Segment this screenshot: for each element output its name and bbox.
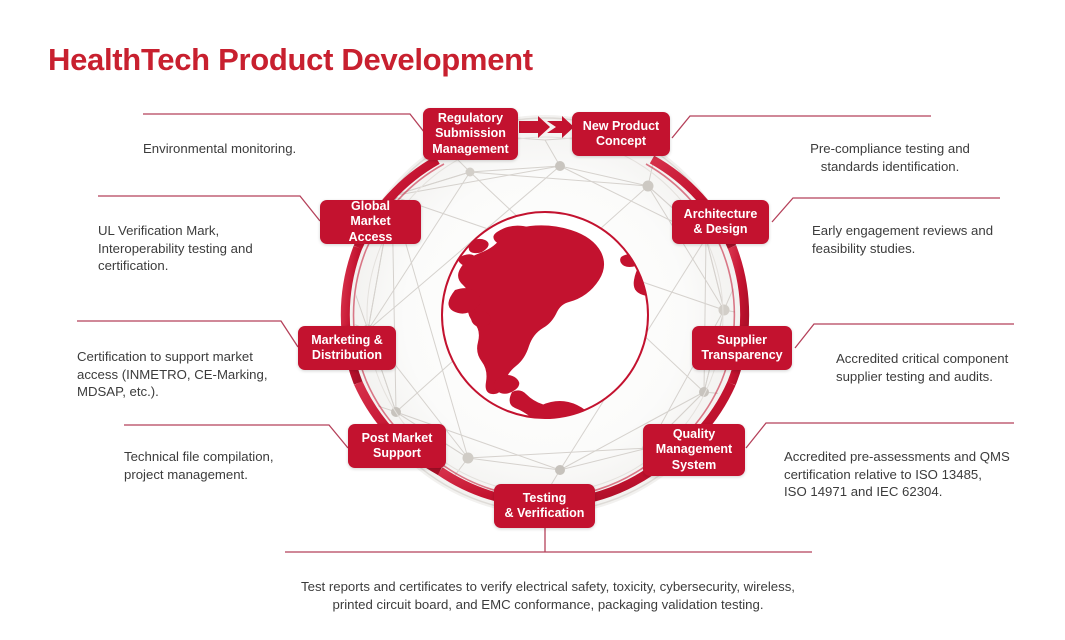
callout-ul-verification-mark: UL Verification Mark, Interoperability t… xyxy=(98,204,338,275)
callout-text: Environmental monitoring. xyxy=(143,141,296,156)
diagram-graphics xyxy=(0,0,1065,640)
callout-text: Certification to support market access (… xyxy=(77,349,268,400)
callout-text: Accredited critical component supplier t… xyxy=(836,351,1008,384)
callout-text: UL Verification Mark, Interoperability t… xyxy=(98,223,253,274)
node-label: Testing & Verification xyxy=(505,491,585,522)
node-label: Supplier Transparency xyxy=(701,333,782,364)
callout-early-engagement-reviews: Early engagement reviews and feasibility… xyxy=(812,204,1062,257)
node-label: Regulatory Submission Management xyxy=(432,111,508,157)
node-marketing-distribution[interactable]: Marketing & Distribution xyxy=(298,326,396,370)
node-label: Architecture & Design xyxy=(684,207,758,238)
node-testing-verification[interactable]: Testing & Verification xyxy=(494,484,595,528)
node-label: New Product Concept xyxy=(583,119,659,150)
callout-text: Accredited pre-assessments and QMS certi… xyxy=(784,449,1010,500)
node-label: Post Market Support xyxy=(362,431,433,462)
callout-accredited-pre-assessments: Accredited pre-assessments and QMS certi… xyxy=(784,430,1059,501)
callout-text: Early engagement reviews and feasibility… xyxy=(812,223,993,256)
callout-technical-file-compilation: Technical file compilation, project mana… xyxy=(124,430,374,483)
node-supplier-transparency[interactable]: Supplier Transparency xyxy=(692,326,792,370)
callout-test-reports-certificates: Test reports and certificates to verify … xyxy=(278,560,818,613)
callout-accredited-supplier-audits: Accredited critical component supplier t… xyxy=(836,332,1065,385)
callout-text: Test reports and certificates to verify … xyxy=(301,579,795,612)
node-quality-management-system[interactable]: Quality Management System xyxy=(643,424,745,476)
node-label: Global Market Access xyxy=(329,199,412,245)
node-label: Marketing & Distribution xyxy=(311,333,383,364)
node-post-market-support[interactable]: Post Market Support xyxy=(348,424,446,468)
callout-text: Technical file compilation, project mana… xyxy=(124,449,274,482)
callout-pre-compliance-testing: Pre-compliance testing and standards ide… xyxy=(760,122,1020,175)
node-new-product-concept[interactable]: New Product Concept xyxy=(572,112,670,156)
callout-text: Pre-compliance testing and standards ide… xyxy=(810,141,970,174)
diagram-canvas: HealthTech Product Development xyxy=(0,0,1065,640)
node-architecture-design[interactable]: Architecture & Design xyxy=(672,200,769,244)
callout-environmental-monitoring: Environmental monitoring. xyxy=(143,122,393,158)
node-global-market-access[interactable]: Global Market Access xyxy=(320,200,421,244)
node-label: Quality Management System xyxy=(656,427,732,473)
node-regulatory-submission-management[interactable]: Regulatory Submission Management xyxy=(423,108,518,160)
